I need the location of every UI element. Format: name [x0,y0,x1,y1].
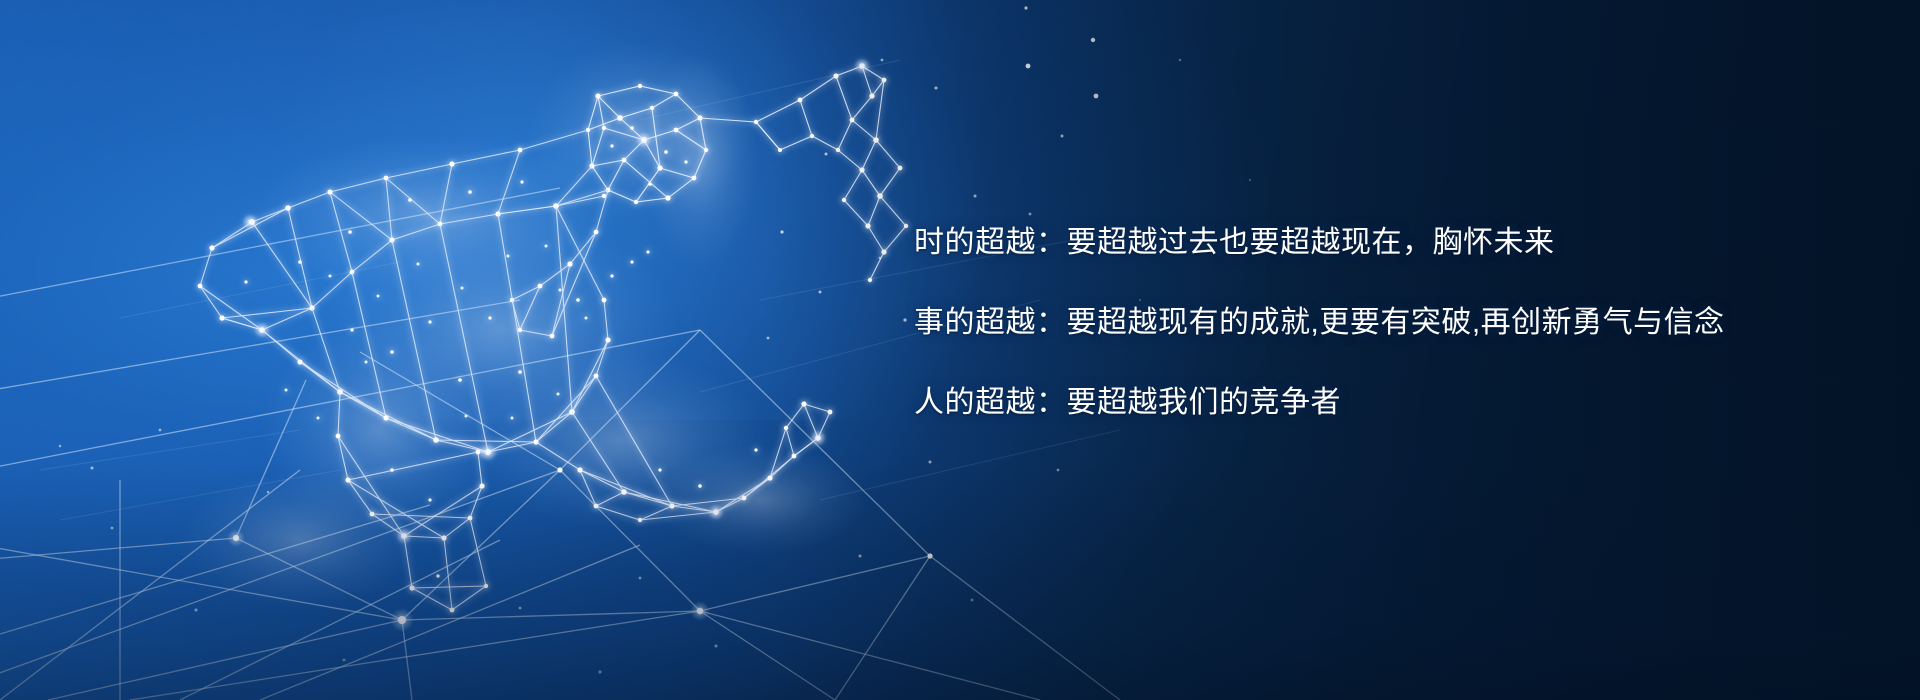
hero-banner: 时的超越：要超越过去也要超越现在，胸怀未来 事的超越：要超越现有的成就,更要有突… [0,0,1920,700]
slogan-line-work: 事的超越：要超越现有的成就,更要有突破,再创新勇气与信念 [914,308,1874,338]
slogan-block: 时的超越：要超越过去也要超越现在，胸怀未来 事的超越：要超越现有的成就,更要有突… [914,228,1874,418]
bottom-shade [0,462,1920,700]
slogan-line-people: 人的超越：要超越我们的竞争者 [914,388,1874,418]
slogan-line-time: 时的超越：要超越过去也要超越现在，胸怀未来 [914,228,1874,258]
